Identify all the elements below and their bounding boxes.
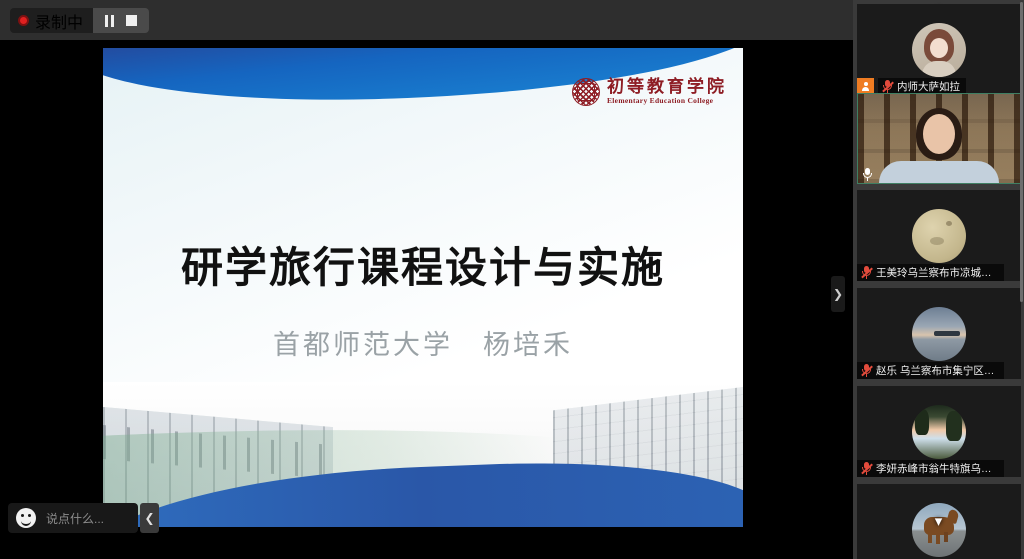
chat-input-bar[interactable]: 说点什么... ❮ — [8, 503, 159, 533]
seal-icon — [572, 78, 600, 106]
participant-name: 内师大萨如拉 — [897, 79, 960, 94]
presentation-slide[interactable]: 初等教育学院 Elementary Education College 研学旅行… — [103, 48, 743, 527]
chat-collapse-button[interactable]: ❮ — [140, 503, 159, 533]
sunset-avatar — [912, 405, 966, 459]
filmstrip-scrollbar[interactable] — [1020, 2, 1023, 302]
participant-filmstrip[interactable]: ▾ 内师大萨如拉 — [853, 0, 1024, 559]
recording-dot-icon — [18, 15, 29, 26]
expand-panel-button[interactable]: ❯ — [831, 276, 845, 312]
anime-girl-avatar — [912, 23, 966, 77]
mic-on-icon — [862, 168, 873, 181]
recording-controls: 录制中 — [10, 8, 149, 33]
participant-name: 王美玲乌兰察布市凉城县第一… — [876, 265, 998, 280]
participant-tile[interactable] — [857, 93, 1021, 184]
recording-buttons — [93, 8, 149, 33]
participant-name-row: 李妍赤峰市翁牛特旗乌丹第六… — [857, 460, 1009, 477]
emoji-icon[interactable] — [16, 508, 36, 528]
participant-name: 李妍赤峰市翁牛特旗乌丹第六… — [876, 461, 998, 476]
participant-tile[interactable]: 王美玲乌兰察布市凉城县第一… — [857, 190, 1021, 281]
chat-placeholder[interactable]: 说点什么... — [46, 510, 132, 527]
participant-name: 赵乐 乌兰察布市集宁区怀远路… — [876, 363, 998, 378]
recording-label: 录制中 — [35, 9, 83, 33]
participant-name-row: 赵乐 乌兰察布市集宁区怀远路… — [857, 362, 1009, 379]
recording-indicator: 录制中 — [10, 8, 93, 33]
participant-name-row — [858, 166, 894, 183]
participant-name-row: 王美玲乌兰察布市凉城县第一… — [857, 264, 1009, 281]
stop-icon[interactable] — [126, 15, 137, 26]
shared-screen-stage: 录制中 初等教育学院 Elementary Education College — [0, 0, 853, 559]
slide-title: 研学旅行课程设计与实施 — [103, 234, 743, 295]
logo-chinese-name: 初等教育学院 — [607, 79, 727, 97]
college-logo: 初等教育学院 Elementary Education College — [572, 78, 727, 106]
slide-subtitle: 首都师范大学 杨培禾 — [103, 323, 743, 362]
mic-muted-icon — [861, 364, 872, 377]
mic-muted-icon — [861, 266, 872, 279]
mic-muted-icon — [861, 462, 872, 475]
pause-icon[interactable] — [105, 15, 114, 27]
participant-tile[interactable]: 李妍赤峰市翁牛特旗乌丹第六… — [857, 386, 1021, 477]
scroll-down-chevron-icon[interactable]: ▾ — [935, 514, 943, 529]
moon-avatar — [912, 209, 966, 263]
meeting-window: 录制中 初等教育学院 Elementary Education College — [0, 0, 1024, 559]
mic-muted-icon — [882, 80, 893, 93]
seascape-avatar — [912, 307, 966, 361]
participant-tile[interactable]: 内师大萨如拉 — [857, 4, 1021, 95]
participant-tile[interactable]: 赵乐 乌兰察布市集宁区怀远路… — [857, 288, 1021, 379]
stage-toolbar: 录制中 — [0, 0, 853, 40]
slide-campus-photo — [103, 382, 743, 527]
logo-english-name: Elementary Education College — [607, 97, 727, 105]
